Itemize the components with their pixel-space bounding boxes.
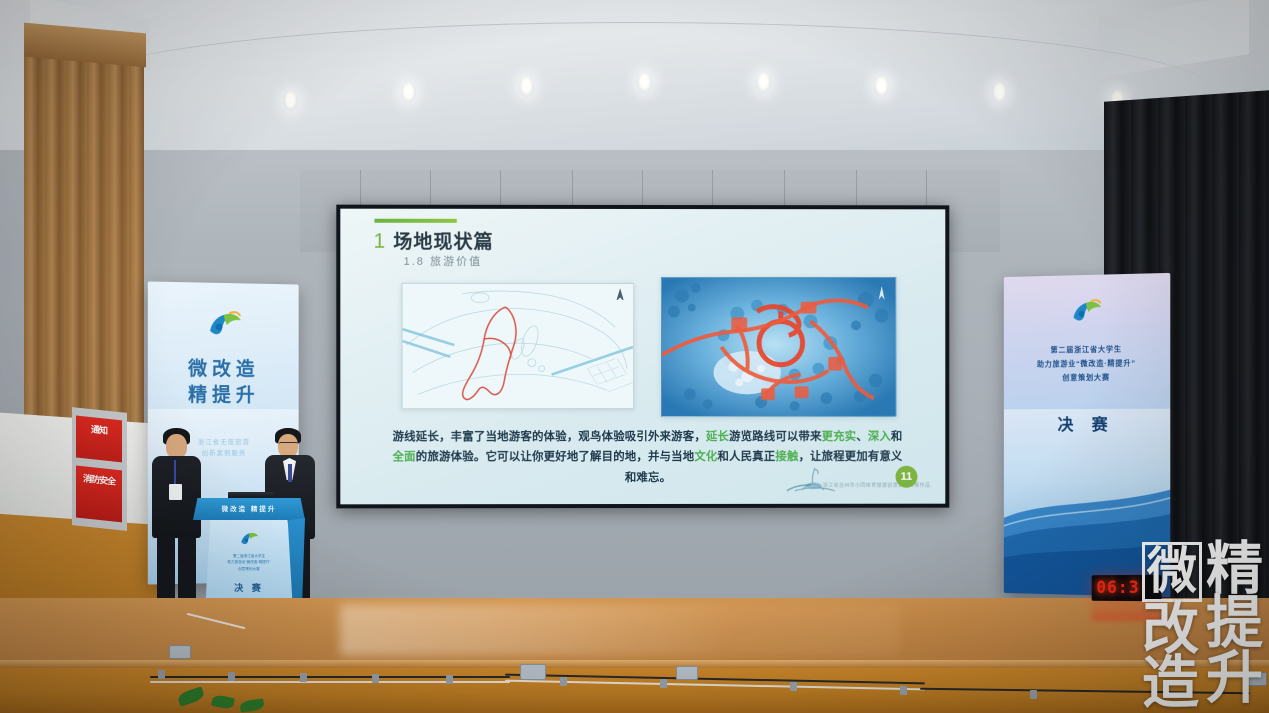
banner-left-title: 微改造 精提升 — [148, 356, 299, 408]
slide-image-aerial-route — [661, 277, 897, 417]
slide-body-run-13: 接触 — [775, 451, 798, 463]
downlight-1 — [283, 90, 298, 111]
slide-body-run-7: 深入 — [868, 431, 891, 443]
watermark-char-gai: 改 — [1142, 602, 1202, 657]
slide-body-run-11: 文化 — [694, 451, 717, 463]
watermark-char-sheng: 升 — [1206, 651, 1263, 706]
banner-right-final-label: 决 赛 — [1004, 411, 1170, 435]
ceiling — [0, 0, 1269, 175]
banner-right-titles: 第二届浙江省大学生 助力旅游业“微改造·精提升” 创意策划大赛 — [1004, 342, 1170, 386]
watermark-column-1: 微 改 造 — [1142, 542, 1202, 711]
weigaizao-logo — [148, 281, 299, 341]
poster-line-1: 通知 — [76, 416, 122, 439]
stage-cable-white-2 — [150, 681, 510, 683]
stage-floor-box-3[interactable] — [676, 666, 698, 680]
banner-left-title-line1: 微改造 — [148, 356, 299, 383]
watermark-char-wei: 微 — [1142, 542, 1202, 602]
poster-line-2: 消防安全 — [76, 466, 122, 489]
slide-content: 1 场地现状篇 1.8 旅游价值 — [340, 209, 945, 505]
watermark-char-zao: 造 — [1142, 656, 1202, 711]
slide-footer-illustration: 浙江省台州市小同体育旅游创意策划大赛作品 — [781, 466, 911, 496]
presenter-right-glasses — [279, 442, 298, 446]
slide-page-number: 11 — [896, 466, 918, 488]
cable-clip — [790, 682, 797, 691]
downlight-6 — [874, 76, 889, 97]
podium-text-block: 第二届浙江省大学生 助力旅游业“微改造·精提升” 创意策划大赛 — [204, 553, 294, 572]
cable-clip — [900, 686, 907, 695]
projection-screen[interactable]: 1 场地现状篇 1.8 旅游价值 — [336, 205, 949, 509]
podium-logo — [204, 520, 294, 548]
presenter-left-leg-1 — [157, 536, 175, 606]
downlight-3 — [519, 76, 534, 97]
weigaizao-logo — [1004, 273, 1170, 328]
podium-final-label: 决 赛 — [204, 581, 294, 594]
slide-section-title: 场地现状篇 — [393, 227, 493, 254]
poster-top-panel: 通知 — [76, 416, 122, 463]
auditorium-presentation-scene: 通知 消防安全 1 场地现状篇 1.8 旅游价值 — [0, 0, 1269, 713]
stage-floor-box-1[interactable] — [169, 645, 191, 659]
poster-bottom-panel: 消防安全 — [76, 466, 122, 523]
slide-body-run-6: 、 — [856, 431, 868, 443]
cable-clip — [372, 674, 379, 683]
ceiling-arc-seam — [55, 22, 1215, 92]
slide-body-run-2: 延长 — [706, 431, 729, 443]
watermark-char-ti: 提 — [1206, 596, 1263, 651]
stage-cable-black-1 — [150, 676, 510, 678]
cable-clip — [1030, 690, 1037, 699]
downlight-7 — [992, 82, 1007, 103]
slide-body-run-1: ，丰富了当地游客的体验，观鸟体验吸引外来游客， — [439, 431, 706, 443]
slide-header: 1 场地现状篇 — [373, 227, 493, 254]
watermark: 微 改 造 精 提 升 — [1142, 542, 1263, 711]
watermark-column-2: 精 提 升 — [1206, 542, 1263, 711]
slide-body-run-10: 的旅游体验。它可以让你更好地了解目的地，并与当地 — [416, 451, 695, 463]
slide-body-run-8: 和 — [891, 431, 903, 443]
watermark-char-jing: 精 — [1206, 542, 1263, 597]
slide-accent-bar — [374, 219, 456, 223]
cable-clip — [228, 672, 235, 681]
cable-clip — [300, 673, 307, 682]
presenter-right-tie — [288, 464, 292, 482]
podium-top-surface: 微改造 精提升 — [193, 498, 305, 520]
podium-line3: 创意策划大赛 — [204, 566, 294, 572]
wall-poster: 通知 消防安全 — [72, 407, 127, 531]
downlight-5 — [756, 72, 771, 93]
slide-body-run-5: 充实 — [833, 431, 856, 443]
downlight-2 — [401, 82, 416, 103]
banner-right-line3: 创意策划大赛 — [1004, 370, 1170, 386]
slide-subtitle: 1.8 旅游价值 — [404, 253, 483, 269]
cable-clip — [660, 679, 667, 688]
presenter-left-lanyard — [174, 460, 176, 486]
slide-body-run-4: 更 — [822, 431, 834, 443]
podium-top-label: 微改造 精提升 — [193, 503, 305, 513]
slide-body-run-3: 游览路线可以带来 — [729, 431, 822, 443]
slide-body-run-0: 游线延长 — [393, 431, 440, 443]
slide-section-number: 1 — [373, 231, 385, 252]
stage-floor-box-2[interactable] — [520, 664, 546, 680]
cable-clip — [560, 677, 567, 686]
stage-floor-reflection — [340, 604, 900, 656]
cable-clip — [158, 670, 165, 679]
slide-body-run-9: 全面 — [393, 451, 416, 463]
presenter-left-badge — [169, 484, 182, 500]
slide-image-site-plan — [402, 283, 634, 409]
banner-left-title-line2: 精提升 — [148, 382, 299, 408]
slide-body-run-12: 和人民真正 — [717, 451, 775, 463]
cable-clip — [446, 675, 453, 684]
